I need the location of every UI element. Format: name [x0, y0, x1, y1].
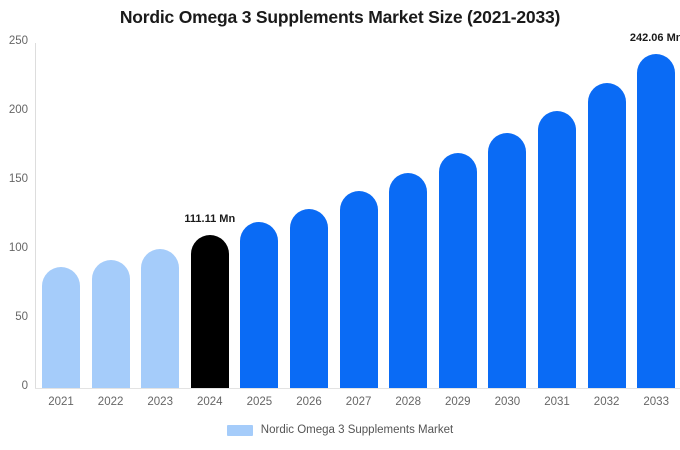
y-axis-tick-label: 200: [0, 104, 28, 116]
bar-2028[interactable]: [389, 173, 427, 388]
x-axis-tick-label-2033: 2033: [637, 396, 675, 408]
x-axis-tick-label-2028: 2028: [389, 396, 427, 408]
x-axis-tick-label-2022: 2022: [92, 396, 130, 408]
bar-2033[interactable]: [637, 54, 675, 388]
y-axis-tick-label: 0: [0, 380, 28, 392]
x-axis-tick-label-2026: 2026: [290, 396, 328, 408]
legend-item[interactable]: Nordic Omega 3 Supplements Market: [227, 424, 453, 436]
x-axis-tick-label-2029: 2029: [439, 396, 477, 408]
x-axis-tick-label-2024: 2024: [191, 396, 229, 408]
bar-2026[interactable]: [290, 209, 328, 388]
bar-2025[interactable]: [240, 222, 278, 388]
x-axis-tick-label-2031: 2031: [538, 396, 576, 408]
bar-2030[interactable]: [488, 133, 526, 388]
plot-area: 050100150200250 202120222023202420252026…: [0, 0, 680, 450]
bar-value-label-2033: 242.06 Mn: [630, 32, 680, 44]
x-axis-tick-label-2025: 2025: [240, 396, 278, 408]
x-axis-tick-label-2030: 2030: [488, 396, 526, 408]
bar-2031[interactable]: [538, 111, 576, 388]
x-axis-tick-label-2032: 2032: [588, 396, 626, 408]
x-axis-tick-label-2021: 2021: [42, 396, 80, 408]
bar-2022[interactable]: [92, 260, 130, 388]
y-axis-tick-label: 250: [0, 35, 28, 47]
y-axis-line: [35, 43, 36, 388]
x-axis-line: [35, 388, 680, 389]
y-axis-tick-label: 50: [0, 311, 28, 323]
chart-container: Nordic Omega 3 Supplements Market Size (…: [0, 0, 680, 450]
bar-2027[interactable]: [340, 191, 378, 388]
legend-label: Nordic Omega 3 Supplements Market: [261, 424, 453, 436]
legend-swatch-icon: [227, 425, 253, 436]
y-axis-tick-label: 100: [0, 242, 28, 254]
x-axis-tick-label-2023: 2023: [141, 396, 179, 408]
bar-2024[interactable]: [191, 235, 229, 388]
x-axis-tick-label-2027: 2027: [340, 396, 378, 408]
bar-2021[interactable]: [42, 267, 80, 388]
bar-value-label-2024: 111.11 Mn: [184, 213, 235, 225]
y-axis-tick-label: 150: [0, 173, 28, 185]
bar-2023[interactable]: [141, 249, 179, 388]
chart-legend: Nordic Omega 3 Supplements Market: [0, 424, 680, 436]
bar-2029[interactable]: [439, 153, 477, 388]
bar-2032[interactable]: [588, 83, 626, 388]
legend-item-list: Nordic Omega 3 Supplements Market: [227, 424, 453, 436]
